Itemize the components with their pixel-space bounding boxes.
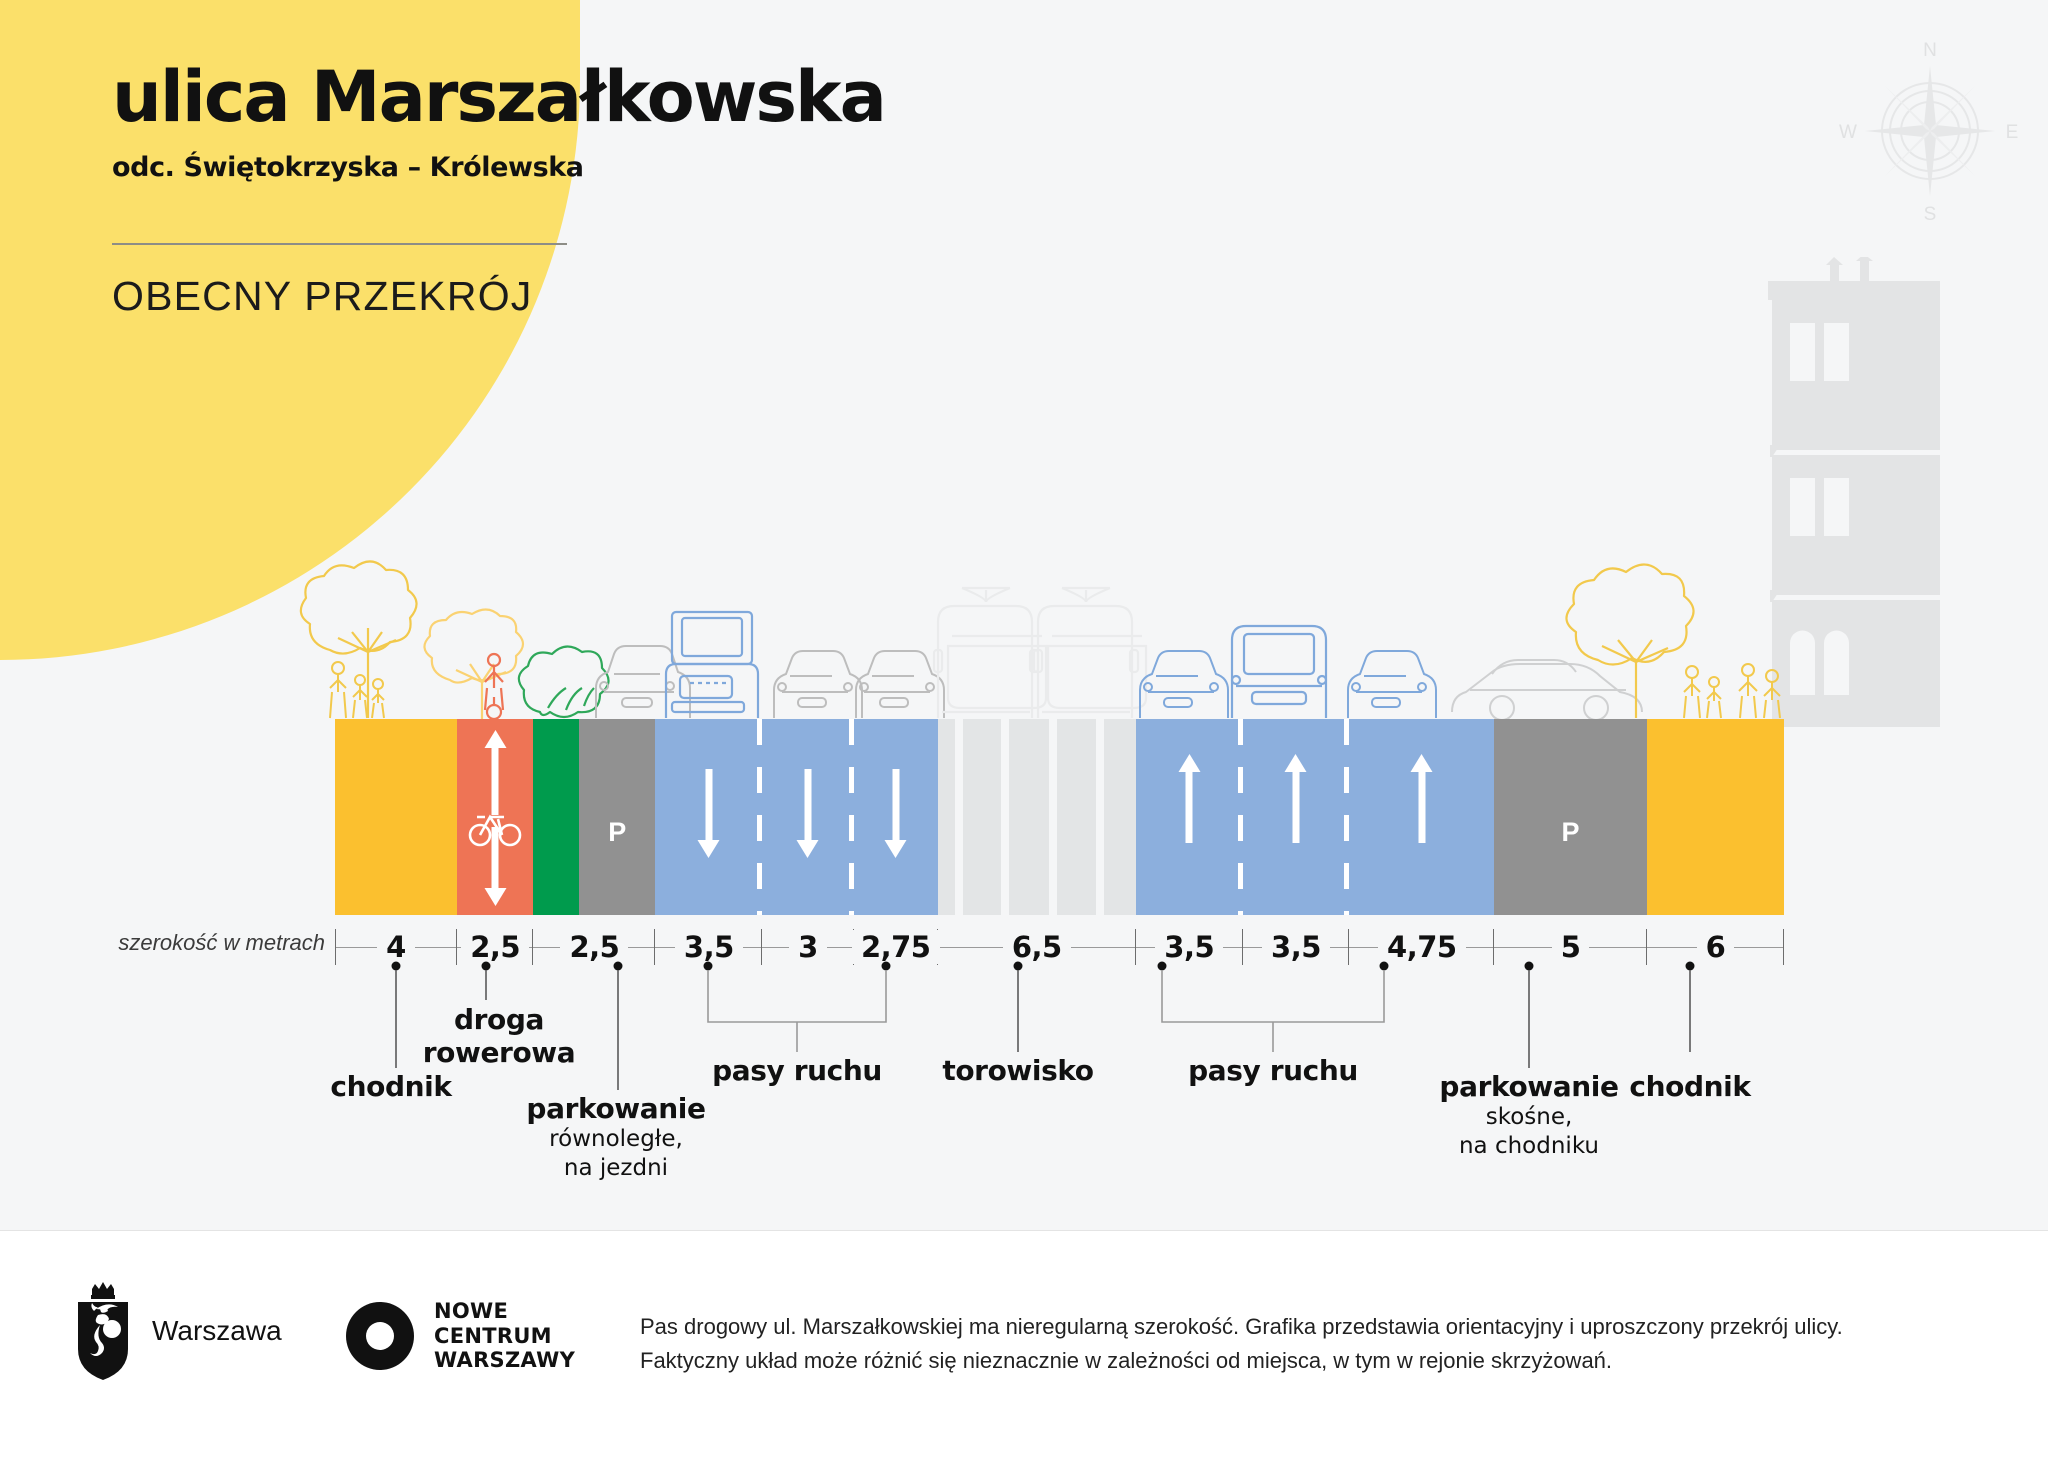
compass-east-label: E xyxy=(2006,122,2019,143)
band-droga-rowerowa[interactable] xyxy=(457,719,533,915)
band-pas-ruchu-1[interactable] xyxy=(655,719,762,915)
band-chodnik-left[interactable] xyxy=(335,719,457,915)
title-divider xyxy=(112,243,567,245)
arrow-up-icon xyxy=(1186,771,1193,843)
compass-rose-icon: N E S W xyxy=(1830,28,2030,228)
band-zielen[interactable] xyxy=(533,719,579,915)
car-blue-1-icon xyxy=(1140,651,1228,718)
parking-p-label: P xyxy=(608,817,626,848)
tram-rails xyxy=(938,719,1136,915)
band-chodnik-right[interactable] xyxy=(1647,719,1784,915)
ruler-caption: szerokość w metrach xyxy=(100,930,325,956)
arrow-down-icon xyxy=(892,769,899,841)
street-scene-illustrations xyxy=(0,540,2048,720)
page-title: ulica Marszałkowska xyxy=(112,62,885,132)
car-grey-3-icon xyxy=(856,651,944,718)
callout-leaders xyxy=(0,960,2048,1200)
street-cross-section: P P xyxy=(335,719,1784,915)
car-grey-2-icon xyxy=(774,651,862,718)
van-blue-icon xyxy=(1232,626,1326,718)
nowe-centrum-warszawy-logo[interactable]: NOWE CENTRUM WARSZAWY xyxy=(342,1298,575,1374)
page-subtitle: odc. Świętokrzyska – Królewska xyxy=(112,152,885,183)
arrow-up-icon xyxy=(1292,771,1299,843)
ncw-ring-icon xyxy=(342,1298,418,1374)
warszawa-coat-of-arms-icon xyxy=(70,1281,136,1381)
compass-south-label: S xyxy=(1924,204,1937,225)
footer-note-line-1: Pas drogowy ul. Marszałkowskiej ma niere… xyxy=(640,1310,1900,1344)
parking-p-label: P xyxy=(1562,817,1580,848)
section-label: OBECNY PRZEKRÓJ xyxy=(112,273,885,320)
pedestrians-right-icon xyxy=(1684,664,1780,718)
tram-1-icon xyxy=(934,588,1046,718)
band-parkowanie-left[interactable]: P xyxy=(579,719,655,915)
header-block: ulica Marszałkowska odc. Świętokrzyska –… xyxy=(112,62,885,320)
arrow-up-icon xyxy=(492,747,499,815)
band-pas-ruchu-5[interactable] xyxy=(1243,719,1350,915)
band-parkowanie-right[interactable]: P xyxy=(1494,719,1647,915)
tree-left-2-icon xyxy=(424,609,523,720)
tram-2-icon xyxy=(1034,588,1146,718)
band-pas-ruchu-6[interactable] xyxy=(1349,719,1494,915)
band-torowisko[interactable] xyxy=(938,719,1136,915)
arrow-down-icon xyxy=(492,827,499,889)
car-blue-2-icon xyxy=(1348,651,1436,718)
footer-note-line-2: Faktyczny układ może różnić się nieznacz… xyxy=(640,1344,1900,1378)
warszawa-logo[interactable]: Warszawa xyxy=(70,1281,282,1381)
band-pas-ruchu-2[interactable] xyxy=(762,719,854,915)
cyclist-icon xyxy=(485,654,503,719)
warszawa-wordmark: Warszawa xyxy=(152,1315,282,1347)
ncw-wordmark: NOWE CENTRUM WARSZAWY xyxy=(434,1299,575,1373)
arrow-down-icon xyxy=(705,769,712,841)
pedestrians-left-icon xyxy=(330,662,384,718)
car-side-parked-icon xyxy=(1452,660,1642,720)
truck-blue-icon xyxy=(666,612,758,718)
band-pas-ruchu-3[interactable] xyxy=(854,719,938,915)
tree-left-icon xyxy=(301,561,417,718)
compass-west-label: W xyxy=(1839,122,1857,143)
car-grey-1-icon xyxy=(596,646,690,718)
arrow-up-icon xyxy=(1418,771,1425,843)
band-pas-ruchu-4[interactable] xyxy=(1136,719,1243,915)
footer-disclaimer: Pas drogowy ul. Marszałkowskiej ma niere… xyxy=(640,1310,1900,1378)
arrow-down-icon xyxy=(804,769,811,841)
compass-north-label: N xyxy=(1923,40,1937,61)
